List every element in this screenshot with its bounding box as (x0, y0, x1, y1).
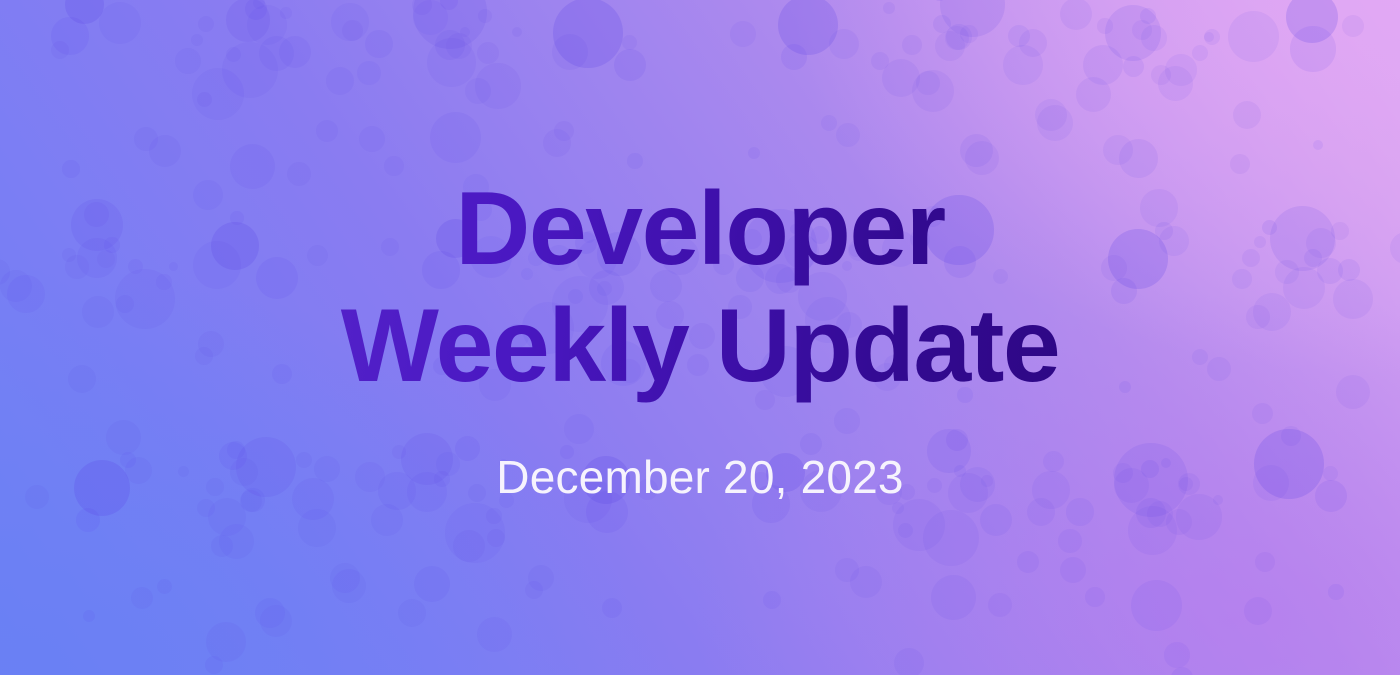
page-title-line-1: Developer (341, 171, 1059, 287)
banner-content: Developer Weekly Update December 20, 202… (0, 0, 1400, 675)
weekly-update-banner: Developer Weekly Update December 20, 202… (0, 0, 1400, 675)
issue-date: December 20, 2023 (496, 450, 903, 504)
page-title-line-2: Weekly Update (341, 288, 1059, 404)
page-title: Developer Weekly Update (331, 171, 1069, 404)
